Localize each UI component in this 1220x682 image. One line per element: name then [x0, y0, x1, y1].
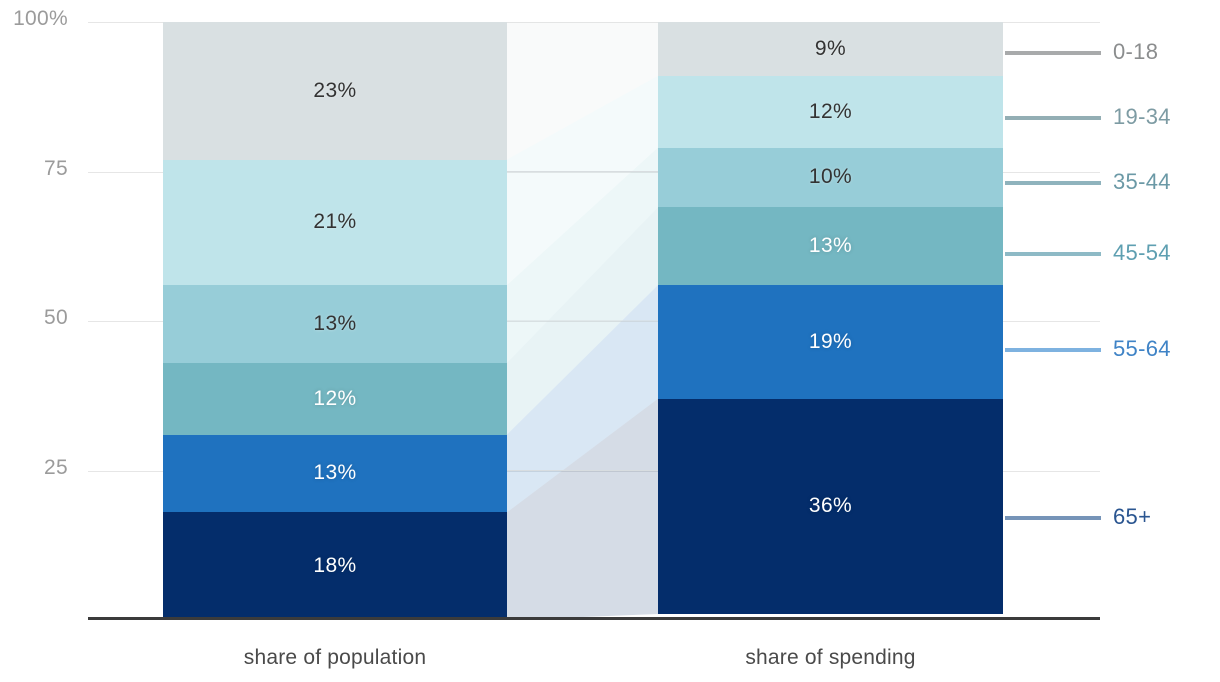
bar-segment-45-54[interactable]: 13%	[658, 207, 1003, 285]
y-axis-tick-25: 25	[0, 456, 68, 480]
legend-label: 0-18	[1113, 39, 1158, 65]
x-axis-label-spending: share of spending	[658, 646, 1003, 670]
segment-value-label: 23%	[313, 79, 356, 103]
bar-segment-65plus[interactable]: 36%	[658, 399, 1003, 614]
segment-value-label: 19%	[809, 330, 852, 354]
bar-share-of-spending[interactable]: 9%12%10%13%19%36%	[658, 22, 1003, 620]
bar-share-of-population[interactable]: 23%21%13%12%13%18%	[163, 22, 507, 620]
segment-value-label: 18%	[313, 554, 356, 578]
legend-connector-line	[1005, 116, 1101, 120]
segment-value-label: 9%	[815, 37, 846, 61]
stacked-bar-chart: 100% 75 50 25 23%21%13%12%13%18% 9%12%10…	[0, 0, 1220, 682]
segment-value-label: 13%	[809, 234, 852, 258]
bar-segment-45-54[interactable]: 12%	[163, 363, 507, 435]
ribbon-svg	[507, 22, 658, 620]
bar-segment-65plus[interactable]: 18%	[163, 512, 507, 620]
connector-ribbons	[507, 22, 658, 620]
segment-value-label: 10%	[809, 165, 852, 189]
bar-segment-55-64[interactable]: 19%	[658, 285, 1003, 399]
segment-value-label: 12%	[313, 387, 356, 411]
segment-value-label: 36%	[809, 494, 852, 518]
bar-segment-35-44[interactable]: 10%	[658, 148, 1003, 208]
y-axis-tick-100: 100%	[0, 7, 68, 31]
x-axis-label-population: share of population	[163, 646, 507, 670]
legend-connector-line	[1005, 516, 1101, 520]
bar-segment-55-64[interactable]: 13%	[163, 435, 507, 513]
legend-connector-line	[1005, 348, 1101, 352]
legend-connector-line	[1005, 252, 1101, 256]
segment-value-label: 21%	[313, 210, 356, 234]
legend-label: 65+	[1113, 504, 1151, 530]
legend-label: 55-64	[1113, 336, 1171, 362]
legend-connector-line	[1005, 181, 1101, 185]
y-axis-tick-50: 50	[0, 306, 68, 330]
legend-label: 19-34	[1113, 104, 1171, 130]
segment-value-label: 12%	[809, 100, 852, 124]
legend-connector-line	[1005, 51, 1101, 55]
bar-segment-19-34[interactable]: 12%	[658, 76, 1003, 148]
y-axis-tick-75: 75	[0, 157, 68, 181]
bar-segment-0-18[interactable]: 9%	[658, 22, 1003, 76]
legend-label: 35-44	[1113, 169, 1171, 195]
segment-value-label: 13%	[313, 461, 356, 485]
segment-value-label: 13%	[313, 312, 356, 336]
bar-segment-19-34[interactable]: 21%	[163, 160, 507, 286]
bar-segment-35-44[interactable]: 13%	[163, 285, 507, 363]
legend-label: 45-54	[1113, 240, 1171, 266]
x-axis-line	[88, 617, 1100, 620]
bar-segment-0-18[interactable]: 23%	[163, 22, 507, 160]
